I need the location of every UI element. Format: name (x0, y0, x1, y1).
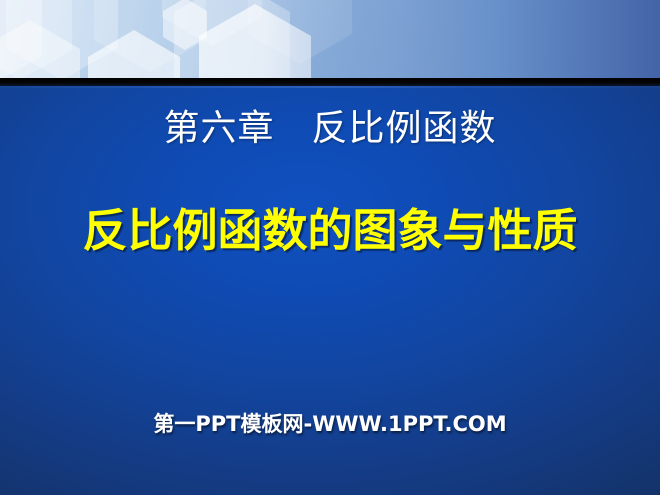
footer-credit: 第一PPT模板网-WWW.1PPT.COM (0, 410, 660, 438)
presentation-slide: 第六章 反比例函数 反比例函数的图象与性质 第一PPT模板网-WWW.1PPT.… (0, 0, 660, 495)
chapter-title: 第六章 反比例函数 (0, 106, 660, 152)
hexagon-pattern-icon (0, 0, 660, 78)
lesson-title: 反比例函数的图象与性质 (0, 203, 660, 259)
header-divider (0, 78, 660, 86)
slide-header-banner (0, 0, 660, 78)
header-divider-highlight (0, 86, 660, 88)
header-fade-overlay (0, 0, 660, 78)
